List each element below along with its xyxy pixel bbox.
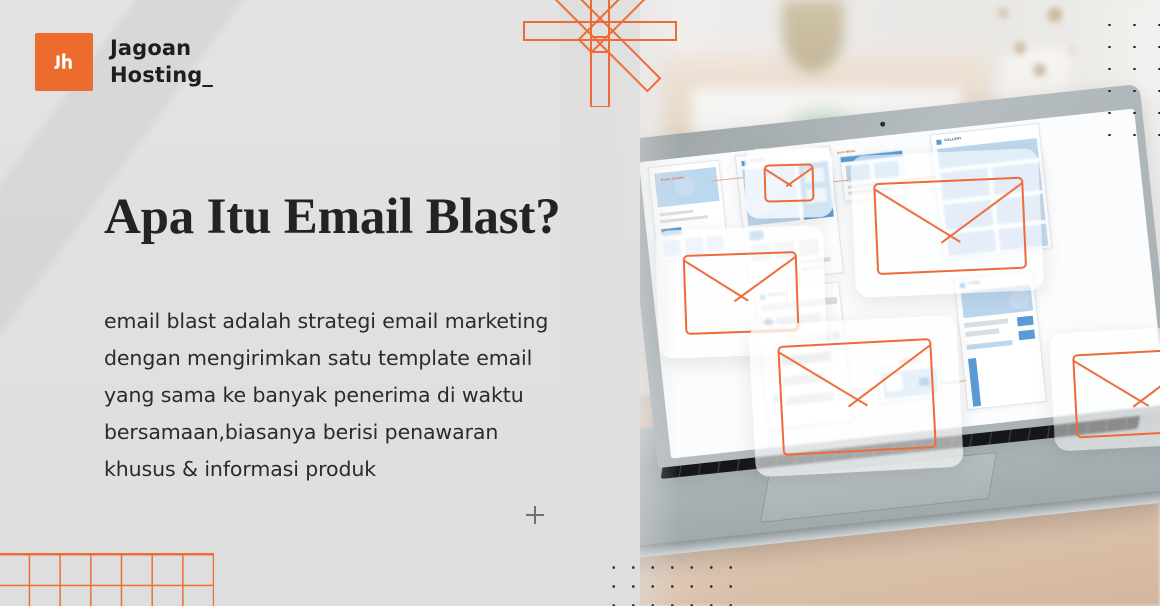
- dot-grid-decoration-right: [1097, 14, 1160, 150]
- dot-grid-decoration-bottom: [604, 558, 736, 606]
- illustration-photo: PROFILE: [600, 0, 1160, 606]
- brand-name: Jagoan Hosting_: [110, 35, 213, 89]
- envelope-card-bottom-right: [1049, 326, 1160, 451]
- envelope-icon: [777, 338, 937, 456]
- brand-name-line1: Jagoan: [110, 36, 191, 60]
- laptop-illustration: PROFILE: [600, 0, 1160, 606]
- paragraph-line: yang sama ke banyak penerima di waktu: [104, 377, 624, 414]
- banner-canvas: PROFILE: [0, 0, 1160, 606]
- page-title: Apa Itu Email Blast?: [104, 188, 561, 246]
- envelope-icon: [873, 177, 1027, 275]
- envelope-icon: [764, 163, 815, 202]
- paragraph-line: khusus & informasi produk: [104, 451, 624, 488]
- brand-logo[interactable]: Jagoan Hosting_: [35, 33, 213, 91]
- envelope-card-top: [744, 147, 834, 219]
- grid-pattern-decoration: [0, 553, 214, 606]
- paragraph-line: email blast adalah strategi email market…: [104, 303, 624, 340]
- envelope-icon: [1072, 348, 1160, 439]
- paragraph-line: dengan mengirimkan satu template email: [104, 340, 624, 377]
- asterisk-star-icon: [520, 0, 680, 107]
- envelope-icon: [683, 251, 800, 335]
- envelope-card-right: [850, 148, 1044, 298]
- brand-name-line2: Hosting_: [110, 62, 213, 89]
- envelope-card-center: [748, 315, 964, 478]
- body-paragraph: email blast adalah strategi email market…: [104, 303, 624, 488]
- webcam-icon: [880, 121, 886, 127]
- paragraph-line: bersamaan,biasanya berisi penawaran: [104, 414, 624, 451]
- jagoan-hosting-monogram-icon: [35, 33, 93, 91]
- plus-mark-icon: [526, 506, 544, 524]
